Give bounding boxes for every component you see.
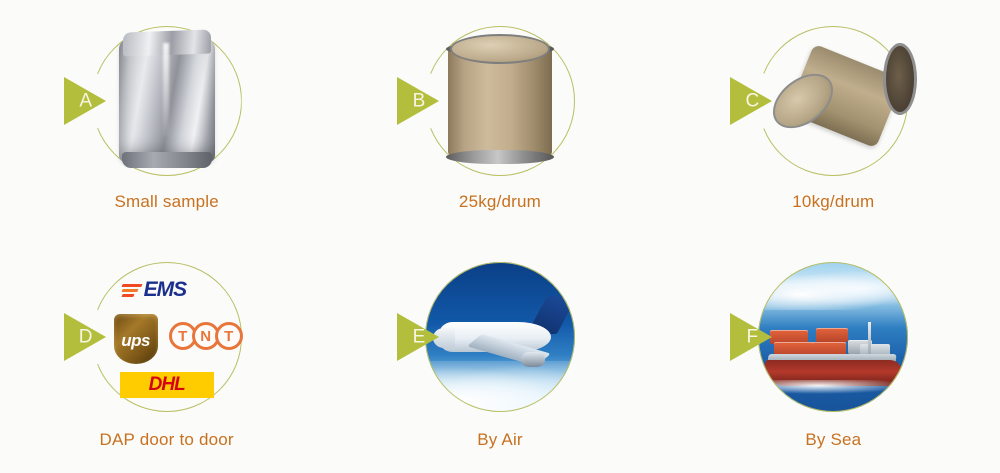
circle-c: C [758, 26, 908, 176]
ups-shield-icon: ups [114, 314, 158, 364]
ems-logo: EMS [122, 278, 206, 302]
cell-by-sea: F By Sea [667, 236, 1000, 473]
tnt-logo: T N T [174, 322, 243, 350]
caption-by-air: By Air [477, 430, 523, 450]
circle-b: B [425, 26, 575, 176]
caption-25kg-drum: 25kg/drum [459, 192, 541, 212]
kraft-paper-drum-image [425, 26, 575, 176]
circle-d: EMS ups T N T DHL [92, 262, 242, 412]
cell-10kg-drum: C 10kg/drum [667, 0, 1000, 236]
drum-shape [448, 34, 552, 168]
bag-crease [163, 43, 169, 137]
cell-dap-door-to-door: EMS ups T N T DHL [0, 236, 333, 473]
open-drum-with-lid-image [758, 26, 908, 176]
ups-wordmark: ups [121, 331, 150, 351]
badge-arrow-a [64, 77, 106, 125]
badge-arrow-e [397, 313, 439, 361]
ring-outline-e [425, 262, 575, 412]
cell-by-air: E By Air [333, 236, 666, 473]
drum-body [448, 48, 552, 156]
caption-10kg-drum: 10kg/drum [792, 192, 874, 212]
foil-bag-shape [119, 39, 215, 163]
cell-25kg-drum: B 25kg/drum [333, 0, 666, 236]
cell-small-sample: A Small sample [0, 0, 333, 236]
drum-open-mouth [883, 43, 917, 115]
circle-e: E [425, 262, 575, 412]
dhl-wordmark: DHL [149, 374, 185, 396]
badge-arrow-d [64, 313, 106, 361]
ring-outline-f [758, 262, 908, 412]
ups-logo: ups [114, 314, 158, 364]
tnt-letter-2: N [200, 328, 211, 345]
ems-stripes-icon [122, 284, 142, 297]
courier-logo-group: EMS ups T N T DHL [92, 262, 242, 412]
tnt-letter-3: T [224, 328, 233, 345]
courier-logos-image: EMS ups T N T DHL [92, 262, 242, 412]
caption-small-sample: Small sample [114, 192, 218, 212]
packaging-shipping-board: A Small sample B 25kg/drum [0, 0, 1000, 473]
ems-wordmark: EMS [144, 278, 187, 302]
drum-lid [450, 34, 550, 64]
circle-f: F [758, 262, 908, 412]
foil-sample-bag-image [92, 26, 242, 176]
badge-arrow-b [397, 77, 439, 125]
badge-arrow-f [730, 313, 772, 361]
dhl-logo: DHL [120, 372, 214, 398]
tnt-letter-1: T [178, 328, 187, 345]
badge-arrow-c [730, 77, 772, 125]
drum-bottom-rim [446, 150, 554, 164]
tilted-drum-shape [763, 41, 903, 161]
caption-by-sea: By Sea [805, 430, 861, 450]
circle-a: A [92, 26, 242, 176]
tnt-circle-3: T [215, 322, 243, 350]
caption-dap-door-to-door: DAP door to door [100, 430, 234, 450]
